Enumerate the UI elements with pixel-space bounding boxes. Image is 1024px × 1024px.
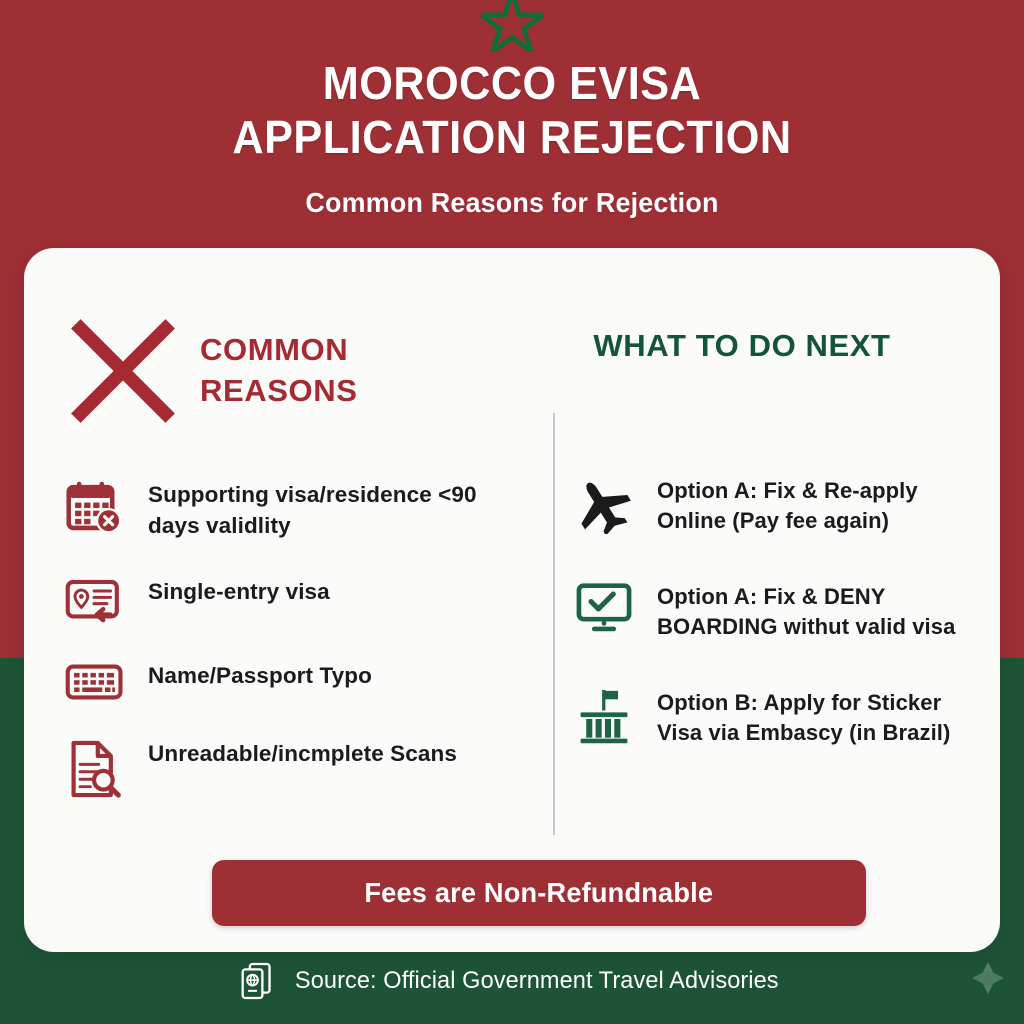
page-title: MOROCCO EVISA APPLICATION REJECTION: [31, 56, 994, 165]
document-search-icon: [64, 737, 126, 799]
common-reasons-column: COMMON REASONS: [64, 306, 524, 833]
list-item: Option A: Fix & DENY BOARDING withut val…: [573, 580, 969, 642]
list-item: Single-entry visa: [64, 575, 524, 625]
calendar-error-icon: [64, 478, 126, 536]
non-refundable-banner: Fees are Non-Refundnable: [212, 860, 866, 926]
list-item-label: Option B: Apply for Sticker Visa via Emb…: [657, 686, 969, 748]
embassy-building-icon: [573, 686, 635, 748]
banner-label: Fees are Non-Refundnable: [365, 877, 714, 909]
what-to-do-next-column: WHAT TO DO NEXT Option A: Fix & Re-apply…: [529, 306, 969, 792]
list-item-label: Unreadable/incmplete Scans: [148, 737, 457, 770]
airplane-icon: [573, 474, 635, 534]
header-titles: MOROCCO EVISA APPLICATION REJECTION Comm…: [0, 56, 1024, 219]
morocco-star-icon: [0, 0, 1024, 52]
page-subtitle: Common Reasons for Rejection: [20, 187, 1003, 219]
list-item-label: Single-entry visa: [148, 575, 330, 608]
infographic-canvas: MOROCCO EVISA APPLICATION REJECTION Comm…: [0, 0, 1024, 1024]
source-footer: Source: Official Government Travel Advis…: [0, 962, 1024, 1000]
list-item-label: Supporting visa/residence <90 days valid…: [148, 478, 524, 541]
content-card: COMMON REASONS: [24, 248, 1000, 952]
id-card-arrow-icon: [64, 575, 126, 625]
what-to-do-next-heading: WHAT TO DO NEXT: [529, 306, 969, 364]
diamond-watermark-icon: [966, 956, 1010, 1000]
what-to-do-next-list: Option A: Fix & Re-apply Online (Pay fee…: [529, 474, 969, 748]
passport-documents-icon: [240, 962, 274, 1000]
common-reasons-heading: COMMON REASONS: [200, 330, 358, 412]
list-item: Option A: Fix & Re-apply Online (Pay fee…: [573, 474, 969, 536]
list-item: Unreadable/incmplete Scans: [64, 737, 524, 799]
list-item-label: Option A: Fix & Re-apply Online (Pay fee…: [657, 474, 969, 536]
common-reasons-header: COMMON REASONS: [64, 306, 524, 436]
source-label: Source: Official Government Travel Advis…: [295, 967, 779, 995]
common-reasons-list: Supporting visa/residence <90 days valid…: [64, 478, 524, 799]
list-item: Option B: Apply for Sticker Visa via Emb…: [573, 686, 969, 748]
list-item-label: Option A: Fix & DENY BOARDING withut val…: [657, 580, 969, 642]
list-item: Supporting visa/residence <90 days valid…: [64, 478, 524, 541]
monitor-check-icon: [573, 580, 635, 634]
list-item-label: Name/Passport Typo: [148, 659, 372, 692]
keyboard-icon: [64, 659, 126, 703]
list-item: Name/Passport Typo: [64, 659, 524, 703]
x-mark-icon: [64, 312, 182, 430]
